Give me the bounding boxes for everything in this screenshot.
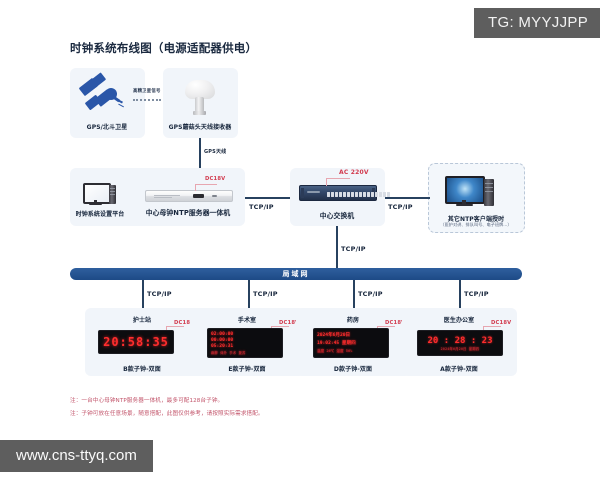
satellite-label: GPS/北斗卫星 [87, 122, 128, 131]
led-clock-2: 02:00:00 00:00:00 05:20:31 麻醉 体外 手术 复苏 [207, 328, 283, 358]
ntp-clients-sublabel: （医护对讲、排队叫号、电子班牌…） [440, 222, 511, 228]
server-to-switch-line [245, 197, 290, 199]
diagram-title: 时钟系统布线图（电源适配器供电） [70, 40, 257, 56]
lan-drop-label-3: TCP/IP [358, 290, 383, 298]
clock-room-3: 药房 [347, 315, 359, 324]
led-row-2-2: 00:00:00 [211, 338, 279, 343]
clock-power-line-1 [166, 326, 184, 327]
satellite-signal-label: 高精卫星信号 [133, 88, 161, 94]
led-row-2-4: 麻醉 体外 手术 复苏 [211, 350, 279, 355]
lan-drop-label-2: TCP/IP [253, 290, 278, 298]
switch-to-lan-label: TCP/IP [341, 245, 366, 253]
led-row-2-3: 05:20:31 [211, 344, 279, 349]
lan-label: 局域网 [283, 269, 310, 279]
led-clock-4: 20 : 28 : 23 2024年6月20日 星期四 [417, 330, 503, 356]
server-power-drop [195, 184, 196, 191]
antenna-to-server-label: GPS天线 [204, 148, 226, 155]
server-power-line [195, 184, 217, 185]
clock-power-label-4: DC18V [491, 320, 511, 326]
switch-to-clients-line [385, 197, 430, 199]
clock-model-1: B款子钟-双面 [123, 364, 161, 373]
clock-power-line-2 [271, 326, 289, 327]
led-time-1: 20:58:35 [103, 335, 169, 349]
clock-power-line-3 [377, 326, 395, 327]
note-2: 注：子钟可放在任意场景，随意搭配，此图仅供参考，请按照实际需求搭配。 [70, 409, 264, 417]
diagram-canvas: TG: MYYJJPP 时钟系统布线图（电源适配器供电） GPS/北斗卫星 高精… [0, 0, 600, 480]
ntp-server-label: 中心母钟NTP服务器一体机 [146, 207, 231, 217]
switch-label: 中心交换机 [320, 210, 354, 220]
network-switch-icon [299, 185, 377, 201]
led-row-4-2: 2024年6月20日 星期四 [421, 346, 499, 351]
satellite-signal-line [133, 99, 161, 101]
switch-power-line [326, 178, 350, 179]
switch-power-drop [326, 178, 327, 186]
satellite-icon [80, 76, 136, 124]
switch-to-lan-line [336, 226, 338, 268]
lan-drop-label-1: TCP/IP [147, 290, 172, 298]
clock-model-3: D款子钟-双面 [334, 364, 372, 373]
antenna-to-server-line [199, 138, 201, 168]
led-clock-3: 2024年6月20日 19:02:45 星期四 温度 26℃ 湿度 56% [313, 328, 389, 358]
led-row-3-2: 19:02:45 星期四 [317, 340, 385, 346]
led-row-4-1: 20 : 28 : 23 [421, 336, 499, 346]
led-row-3-1: 2024年6月20日 [317, 332, 385, 338]
tg-badge: TG: MYYJJPP [474, 8, 600, 38]
lan-drop-line-4 [459, 280, 461, 308]
rack-server-icon [145, 190, 233, 202]
led-row-2-1: 02:00:00 [211, 332, 279, 337]
switch-to-clients-label: TCP/IP [388, 203, 413, 211]
site-watermark: www.cns-ttyq.com [0, 440, 153, 472]
clock-room-1: 护士站 [133, 315, 151, 324]
clock-model-2: E款子钟-双面 [228, 364, 265, 373]
clock-room-2: 手术室 [238, 315, 256, 324]
clock-model-4: A款子钟-双面 [440, 364, 478, 373]
lan-bar: 局域网 [70, 268, 522, 280]
led-row-3-3: 温度 26℃ 湿度 56% [317, 349, 385, 354]
led-clock-1: 20:58:35 [98, 330, 174, 354]
clock-room-4: 医生办公室 [444, 315, 475, 324]
antenna-label: GPS蘑菇头天线接收器 [169, 122, 232, 131]
lan-drop-line-2 [248, 280, 250, 308]
lan-drop-label-4: TCP/IP [464, 290, 489, 298]
clock-power-line-4 [483, 326, 501, 327]
lan-drop-line-3 [353, 280, 355, 308]
lan-drop-line-1 [142, 280, 144, 308]
platform-label: 时钟系统设置平台 [76, 209, 125, 218]
note-1: 注：一台中心母钟NTP服务器一体机，最多可配128台子钟。 [70, 396, 223, 404]
server-power-label: DC18V [205, 176, 225, 182]
switch-power-label: AC 220V [339, 169, 369, 176]
server-to-switch-label: TCP/IP [249, 203, 274, 211]
